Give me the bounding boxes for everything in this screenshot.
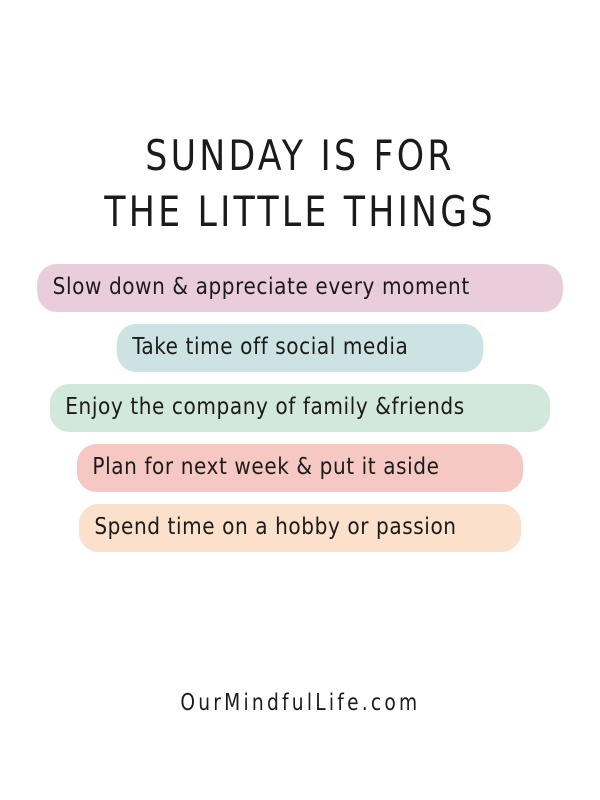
statement-list: Slow down & appreciate every moment Take… xyxy=(0,264,600,564)
list-item: Take time off social media xyxy=(0,324,600,372)
statement-bar-5: Spend time on a hobby or passion xyxy=(79,504,521,552)
list-item: Plan for next week & put it aside xyxy=(0,444,600,492)
statement-bar-2: Take time off social media xyxy=(117,324,484,372)
list-item: Spend time on a hobby or passion xyxy=(0,504,600,552)
page-title: Sunday is for The little things xyxy=(0,128,600,240)
statement-bar-1: Slow down & appreciate every moment xyxy=(37,264,563,312)
title-line-1: Sunday is for xyxy=(24,128,576,184)
footer: OurMindfulLife.com xyxy=(0,690,600,716)
statement-bar-4: Plan for next week & put it aside xyxy=(77,444,523,492)
title-line-2: The little things xyxy=(24,184,576,240)
list-item: Enjoy the company of family &friends xyxy=(0,384,600,432)
site-credit: OurMindfulLife.com xyxy=(180,690,420,716)
statement-bar-3: Enjoy the company of family &friends xyxy=(50,384,551,432)
poster-canvas: Sunday is for The little things Slow dow… xyxy=(0,0,600,800)
list-item: Slow down & appreciate every moment xyxy=(0,264,600,312)
